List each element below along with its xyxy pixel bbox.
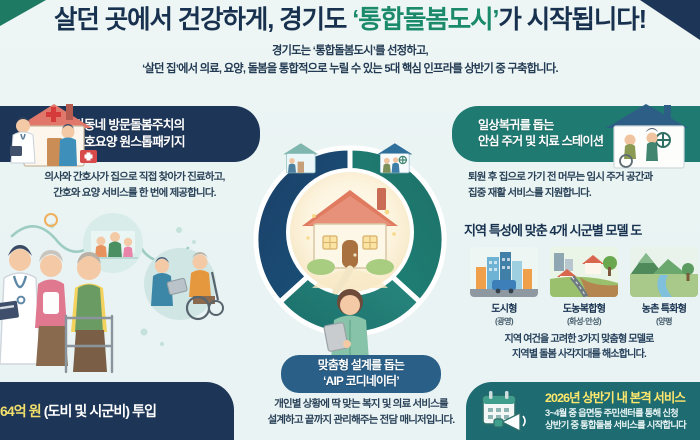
model-card-city: 도시형 (광명) [470,247,538,327]
model-name: 도농복합형 [550,300,618,315]
callout-right-line-2: 안심 주거 및 치료 스테이션 [478,134,603,150]
model-region: (화성·안성) [550,315,618,327]
budget-amount: 64억 원 [0,403,41,419]
model-region: (양평 [630,315,698,327]
callout-left-desc-1: 의사와 간호사가 집으로 직접 찾아가 진료하고, [12,170,257,186]
subtitle-line-1: 경기도는 ‘통합돌봄도시’를 선정하고, [0,42,700,60]
model-region: (광명) [470,315,538,327]
petal-icon-home-visit [283,143,318,173]
city-buildings-icon [470,247,538,297]
callout-center-line-1: 맞춤형 설계를 돕는 [318,358,404,374]
model-card-mixed: 도농복합형 (화성·안성) [550,247,618,327]
budget-text: 64억 원 (도비 및 시군비) 투입 [0,401,156,421]
subtitle-line-2: ‘살던 집’에서 의료, 요양, 돌봄을 통합적으로 누릴 수 있는 5대 핵심… [0,60,700,78]
budget-suffix: (도비 및 시군비) 투입 [41,403,156,419]
callout-right-desc-2: 집중 재활 서비스를 지원합니다. [468,186,698,202]
treatment-station-illustration [600,100,696,174]
calendar-megaphone-icon [480,390,536,432]
models-footer: 지역 여건을 고려한 3가지 맞춤형 모델로 지역별 돌봄 사각지대를 해소합니… [452,333,700,362]
models-title: 지역 특성에 맞춘 4개 시군별 모델 도 [452,220,700,239]
vignette-nurse-consult [144,248,223,320]
regional-models-section: 지역 특성에 맞춘 4개 시군별 모델 도 [452,220,700,362]
rural-urban-mix-icon [550,247,618,297]
elderly-woman-figure [35,250,68,366]
doctor-figure [0,245,40,364]
callout-right-desc-1: 퇴원 후 집으로 가기 전 머무는 임시 주거 공간과 [468,170,698,186]
page-subtitle: 경기도는 ‘통합돌봄도시’를 선정하고, ‘살던 집’에서 의료, 요양, 돌봄… [0,42,700,78]
models-row: 도시형 (광명) [452,247,700,327]
callout-right-description: 퇴원 후 집으로 가기 전 머무는 임시 주거 공간과 집중 재활 서비스를 지… [468,170,698,201]
countryside-mountain-icon [630,247,698,297]
title-highlight: ‘통합돌봄도시’ [352,6,498,34]
model-card-countryside: 농촌 특화형 (양평 [630,247,698,327]
petal-icon-treatment-station [377,143,412,173]
callout-center-desc-1: 개인별 상황에 딱 맞는 복지 및 의료 서비스를 [226,397,496,413]
title-part-2: 가 시작됩니다! [498,6,646,34]
infographic-poster: 살던 곳에서 건강하게, 경기도 ‘통합돌봄도시’가 시작됩니다! 경기도는 ‘… [0,0,700,440]
left-illustration [0,196,244,382]
title-part-1: 살던 곳에서 건강하게, 경기도 [54,6,352,34]
center-diagram [222,112,478,362]
callout-center-desc-2: 설계하고 끝까지 관리해주는 전담 매니저입니다. [226,413,496,429]
callout-center-description: 개인별 상황에 딱 맞는 복지 및 의료 서비스를 설계하고 끝까지 관리해주는… [226,397,496,428]
home-visit-care-illustration [6,98,102,172]
callout-center-line-2: ‘AIP 코디네이터’ [318,374,404,390]
callout-center-banner: 맞춤형 설계를 돕는 ‘AIP 코디네이터’ [281,355,441,393]
budget-bar: 64억 원 (도비 및 시군비) 투입 [0,382,234,440]
models-footer-line-1: 지역 여건을 고려한 3가지 맞춤형 모델로 [452,333,700,348]
models-footer-line-2: 지역별 돌봄 사각지대를 해소합니다. [452,348,700,363]
callout-right-line-1: 일상복귀를 돕는 [478,118,603,134]
page-title: 살던 곳에서 건강하게, 경기도 ‘통합돌봄도시’가 시작됩니다! [0,6,700,35]
schedule-line-1: 3~4월 중 읍면동 주민센터를 통해 신청 [545,407,686,419]
schedule-headline: 2026년 상반기 내 본격 서비스 [545,390,686,407]
schedule-bar: 2026년 상반기 내 본격 서비스 3~4월 중 읍면동 주민센터를 통해 신… [466,382,700,440]
model-name: 도시형 [470,300,538,315]
header: 살던 곳에서 건강하게, 경기도 ‘통합돌봄도시’가 시작됩니다! 경기도는 ‘… [0,6,700,78]
schedule-line-2: 상반기 중 통합돌봄 서비스를 시작합니다 [545,419,686,431]
model-name: 농촌 특화형 [630,300,698,315]
